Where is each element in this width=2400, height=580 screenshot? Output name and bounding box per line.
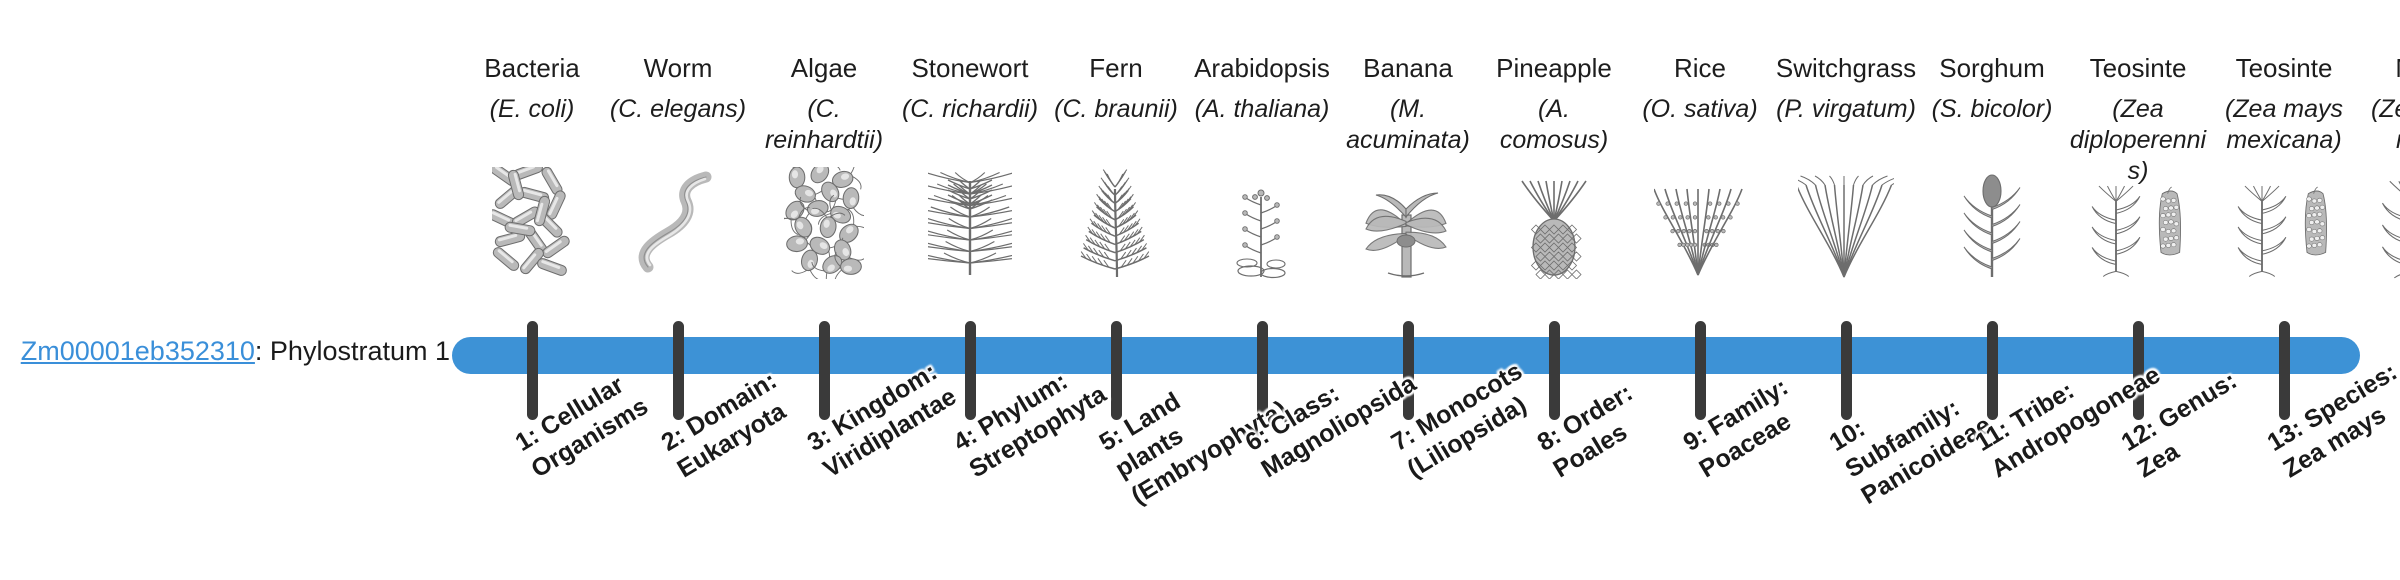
species-common-name: Algae bbox=[751, 52, 897, 85]
species-column-13: Teosinte(Zea mays mexicana) bbox=[2211, 52, 2357, 156]
row-label: Zm00001eb352310: Phylostratum 1 bbox=[0, 334, 450, 368]
species-scientific-name: (C. reinhardtii) bbox=[751, 94, 897, 156]
species-common-name: Pineapple bbox=[1481, 52, 1627, 85]
species-common-name: Banana bbox=[1335, 52, 1481, 85]
worm-illustration bbox=[605, 167, 751, 279]
species-common-name: Rice bbox=[1627, 52, 1773, 85]
bacteria-illustration bbox=[459, 167, 605, 279]
phylostratum-value: : Phylostratum 1 bbox=[255, 336, 450, 366]
species-common-name: Fern bbox=[1043, 52, 1189, 85]
species-scientific-name: (C. richardii) bbox=[897, 94, 1043, 125]
switchgrass-illustration bbox=[1773, 167, 1919, 279]
species-scientific-name: (P. virgatum) bbox=[1773, 94, 1919, 125]
species-column-9: Rice(O. sativa) bbox=[1627, 52, 1773, 125]
species-header-row: Bacteria(E. coli) bbox=[0, 0, 2400, 300]
species-scientific-name: (Zea mays mays) bbox=[2357, 94, 2400, 156]
species-scientific-name: (M. acuminata) bbox=[1335, 94, 1481, 156]
species-column-10: Switchgrass(P. virgatum) bbox=[1773, 52, 1919, 125]
species-column-6: Arabidopsis(A. thaliana) bbox=[1189, 52, 1335, 125]
species-scientific-name: (Zea mays mexicana) bbox=[2211, 94, 2357, 156]
species-scientific-name: (O. sativa) bbox=[1627, 94, 1773, 125]
phylostratigraphy-figure: Zm00001eb352310: Phylostratum 1 Bacteria… bbox=[0, 0, 2400, 580]
banana-illustration bbox=[1335, 167, 1481, 279]
arabidopsis-illustration bbox=[1189, 167, 1335, 279]
species-common-name: Bacteria bbox=[459, 52, 605, 85]
species-common-name: Maize bbox=[2357, 52, 2400, 85]
sorghum-illustration bbox=[1919, 167, 2065, 279]
algae-illustration bbox=[751, 167, 897, 279]
maize-illustration bbox=[2357, 167, 2400, 279]
species-common-name: Worm bbox=[605, 52, 751, 85]
species-column-3: Algae(C. reinhardtii) bbox=[751, 52, 897, 156]
species-column-11: Sorghum(S. bicolor) bbox=[1919, 52, 2065, 125]
pineapple-illustration bbox=[1481, 167, 1627, 279]
species-column-8: Pineapple(A. comosus) bbox=[1481, 52, 1627, 156]
species-column-1: Bacteria(E. coli) bbox=[459, 52, 605, 125]
teosinte-mexicana-illustration bbox=[2211, 167, 2357, 279]
species-column-5: Fern(C. braunii) bbox=[1043, 52, 1189, 125]
species-common-name: Arabidopsis bbox=[1189, 52, 1335, 85]
tick-1 bbox=[527, 321, 538, 420]
fern-illustration bbox=[1043, 167, 1189, 279]
species-scientific-name: (E. coli) bbox=[459, 94, 605, 125]
species-common-name: Sorghum bbox=[1919, 52, 2065, 85]
species-common-name: Teosinte bbox=[2065, 52, 2211, 85]
rice-illustration bbox=[1627, 167, 1773, 279]
species-scientific-name: (C. braunii) bbox=[1043, 94, 1189, 125]
species-scientific-name: (S. bicolor) bbox=[1919, 94, 2065, 125]
stonewort-illustration bbox=[897, 167, 1043, 279]
species-column-7: Banana(M. acuminata) bbox=[1335, 52, 1481, 156]
species-common-name: Switchgrass bbox=[1773, 52, 1919, 85]
species-column-14: Maize(Zea mays mays) bbox=[2357, 52, 2400, 156]
species-scientific-name: (A. comosus) bbox=[1481, 94, 1627, 156]
species-column-4: Stonewort(C. richardii) bbox=[897, 52, 1043, 125]
species-scientific-name: (A. thaliana) bbox=[1189, 94, 1335, 125]
species-common-name: Stonewort bbox=[897, 52, 1043, 85]
gene-id-link[interactable]: Zm00001eb352310 bbox=[21, 336, 255, 366]
species-column-2: Worm(C. elegans) bbox=[605, 52, 751, 125]
teosinte-diploperennis-illustration bbox=[2065, 167, 2211, 279]
species-common-name: Teosinte bbox=[2211, 52, 2357, 85]
species-scientific-name: (C. elegans) bbox=[605, 94, 751, 125]
